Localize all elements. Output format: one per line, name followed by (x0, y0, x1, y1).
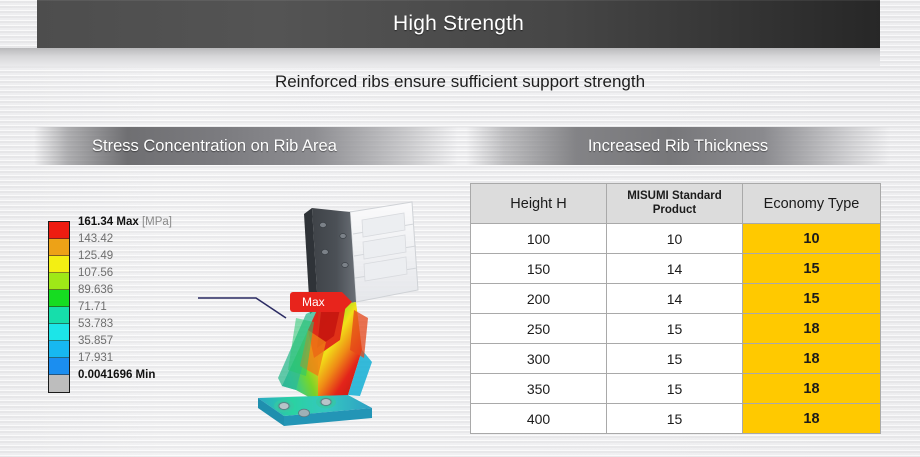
legend-swatch-2 (49, 256, 69, 273)
legend-swatch-3 (49, 273, 69, 290)
legend-swatch-0 (49, 222, 69, 239)
legend-label-9: 0.0041696 Min (78, 367, 172, 384)
legend-swatch-7 (49, 341, 69, 358)
slide-subtitle: Reinforced ribs ensure sufficient suppor… (0, 72, 920, 92)
cell-economy: 18 (743, 314, 881, 344)
cell-height: 300 (471, 344, 607, 374)
stress-legend-values: 161.34 Max [MPa]143.42125.49107.5689.636… (78, 214, 172, 384)
cell-standard: 14 (607, 254, 743, 284)
legend-unit: [MPa] (139, 216, 172, 228)
legend-label-7: 35.857 (78, 333, 172, 350)
table-row: 3501518 (471, 374, 881, 404)
cell-economy: 15 (743, 254, 881, 284)
legend-swatch-6 (49, 324, 69, 341)
stress-legend-color-scale (48, 221, 70, 393)
cell-height: 200 (471, 284, 607, 314)
legend-label-0: 161.34 Max [MPa] (78, 214, 172, 231)
stress-legend: 161.34 Max [MPa]143.42125.49107.5689.636… (48, 221, 172, 393)
cell-height: 400 (471, 404, 607, 434)
cell-height: 350 (471, 374, 607, 404)
legend-label-2: 125.49 (78, 248, 172, 265)
page-title: High Strength (393, 12, 524, 36)
legend-swatch-1 (49, 239, 69, 256)
legend-swatch-9 (49, 375, 69, 392)
cell-standard: 14 (607, 284, 743, 314)
cell-economy: 15 (743, 284, 881, 314)
cell-height: 100 (471, 224, 607, 254)
section-header-right-label: Increased Rib Thickness (588, 137, 768, 156)
column-header-economy: Economy Type (743, 184, 881, 224)
table-row: 1001010 (471, 224, 881, 254)
legend-swatch-5 (49, 307, 69, 324)
table-row: 2001415 (471, 284, 881, 314)
table-row: 2501518 (471, 314, 881, 344)
section-header-left-label: Stress Concentration on Rib Area (92, 137, 337, 156)
table-row: 3001518 (471, 344, 881, 374)
cell-standard: 15 (607, 314, 743, 344)
section-header-left: Stress Concentration on Rib Area (34, 127, 458, 165)
legend-label-4: 89.636 (78, 282, 172, 299)
cell-height: 250 (471, 314, 607, 344)
section-header-right: Increased Rib Thickness (466, 127, 890, 165)
legend-label-3: 107.56 (78, 265, 172, 282)
rib-thickness-table: Height H MISUMI Standard Product Economy… (470, 183, 881, 434)
cell-economy: 18 (743, 404, 881, 434)
table-row: 4001518 (471, 404, 881, 434)
legend-label-5: 71.71 (78, 299, 172, 316)
cell-standard: 15 (607, 404, 743, 434)
legend-label-6: 53.783 (78, 316, 172, 333)
column-header-standard: MISUMI Standard Product (607, 184, 743, 224)
cell-standard: 15 (607, 374, 743, 404)
cell-standard: 10 (607, 224, 743, 254)
slide-title-bar: High Strength (37, 0, 880, 48)
callout-leader-line (196, 280, 306, 320)
legend-swatch-4 (49, 290, 69, 307)
table-row: 1501415 (471, 254, 881, 284)
title-bar-shadow (0, 48, 880, 66)
cell-economy: 10 (743, 224, 881, 254)
table-header-row: Height H MISUMI Standard Product Economy… (471, 184, 881, 224)
legend-label-1: 143.42 (78, 231, 172, 248)
column-header-height: Height H (471, 184, 607, 224)
cell-economy: 18 (743, 374, 881, 404)
cell-economy: 18 (743, 344, 881, 374)
base-foot-plate (258, 395, 372, 426)
cell-height: 150 (471, 254, 607, 284)
legend-swatch-8 (49, 358, 69, 375)
legend-label-8: 17.931 (78, 350, 172, 367)
cell-standard: 15 (607, 344, 743, 374)
